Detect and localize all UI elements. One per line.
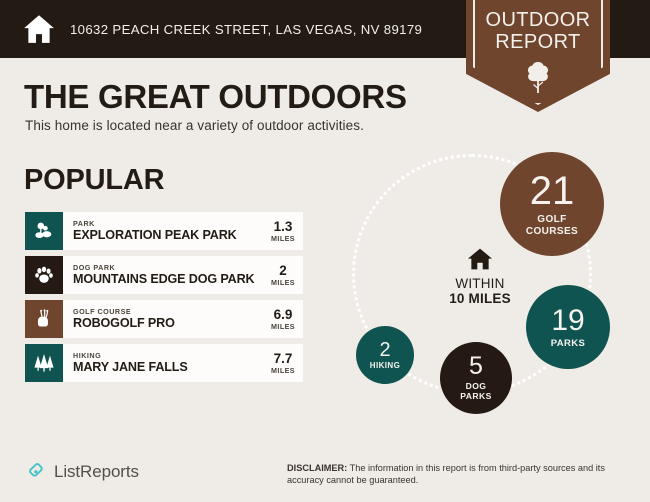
diagram-center-line1: WITHIN xyxy=(432,276,528,291)
stat-label-line1: GOLF xyxy=(537,214,566,225)
list-item-distance-value: 2 xyxy=(271,264,295,278)
stat-value: 19 xyxy=(551,306,584,336)
page-title: THE GREAT OUTDOORS xyxy=(24,78,407,116)
stat-value: 2 xyxy=(379,340,390,360)
list-item-category: PARK xyxy=(73,220,237,228)
golf-bag-icon xyxy=(25,300,63,338)
list-item-distance-value: 6.9 xyxy=(271,308,295,322)
stat-bubble-parks[interactable]: 19 PARKS xyxy=(526,285,610,369)
list-item-distance: 6.9 MILES xyxy=(265,308,295,330)
listreports-logo-text: ListReports xyxy=(54,462,139,482)
list-item-distance: 7.7 MILES xyxy=(265,352,295,374)
stat-label-line2: COURSES xyxy=(526,226,578,237)
list-item-distance: 1.3 MILES xyxy=(265,220,295,242)
stat-bubble-hiking[interactable]: 2 HIKING xyxy=(356,326,414,384)
list-item[interactable]: HIKING MARY JANE FALLS 7.7 MILES xyxy=(25,344,303,382)
list-item-name: EXPLORATION PEAK PARK xyxy=(73,229,237,242)
list-item-text: PARK EXPLORATION PEAK PARK xyxy=(73,220,237,242)
list-item-name: MOUNTAINS EDGE DOG PARK xyxy=(73,273,255,286)
stat-label: GOLF COURSES xyxy=(526,214,578,237)
diagram-center: WITHIN 10 MILES xyxy=(432,247,528,306)
property-address: 10632 PEACH CREEK STREET, LAS VEGAS, NV … xyxy=(70,22,422,37)
stat-value: 21 xyxy=(530,171,575,211)
list-item-name: MARY JANE FALLS xyxy=(73,361,188,374)
popular-list: PARK EXPLORATION PEAK PARK 1.3 MILES DOG… xyxy=(25,212,303,388)
park-icon xyxy=(25,212,63,250)
stat-label-line2: PARKS xyxy=(460,391,491,401)
list-item-distance-unit: MILES xyxy=(271,323,295,330)
badge-title-line2: REPORT xyxy=(466,31,610,53)
list-item[interactable]: DOG PARK MOUNTAINS EDGE DOG PARK 2 MILES xyxy=(25,256,303,294)
list-item-distance-unit: MILES xyxy=(271,279,295,286)
list-item[interactable]: GOLF COURSE ROBOGOLF PRO 6.9 MILES xyxy=(25,300,303,338)
paw-icon xyxy=(25,256,63,294)
stat-label: HIKING xyxy=(370,362,400,370)
list-item-body: PARK EXPLORATION PEAK PARK 1.3 MILES xyxy=(63,212,303,250)
list-item-distance: 2 MILES xyxy=(265,264,295,286)
list-item-distance-unit: MILES xyxy=(271,367,295,374)
list-item-distance-value: 1.3 xyxy=(271,220,295,234)
within-10-miles-diagram: WITHIN 10 MILES 21 GOLF COURSES 19 PARKS… xyxy=(336,142,636,438)
list-item-category: GOLF COURSE xyxy=(73,308,175,316)
list-item-distance-value: 7.7 xyxy=(271,352,295,366)
stat-value: 5 xyxy=(469,354,483,379)
list-item-body: DOG PARK MOUNTAINS EDGE DOG PARK 2 MILES xyxy=(63,256,303,294)
list-item-category: DOG PARK xyxy=(73,264,255,272)
list-item-text: DOG PARK MOUNTAINS EDGE DOG PARK xyxy=(73,264,255,286)
list-item-distance-unit: MILES xyxy=(271,235,295,242)
disclaimer-label: DISCLAIMER: xyxy=(287,463,347,473)
page-subtitle: This home is located near a variety of o… xyxy=(25,118,364,133)
list-item[interactable]: PARK EXPLORATION PEAK PARK 1.3 MILES xyxy=(25,212,303,250)
badge-title: OUTDOOR REPORT xyxy=(466,9,610,53)
tree-icon xyxy=(523,60,553,94)
stat-label: PARKS xyxy=(551,339,586,349)
list-item-text: HIKING MARY JANE FALLS xyxy=(73,352,188,374)
home-icon xyxy=(467,247,493,271)
stat-label: DOG PARKS xyxy=(460,382,491,401)
badge-title-line1: OUTDOOR xyxy=(466,9,610,31)
disclaimer: DISCLAIMER: The information in this repo… xyxy=(287,462,627,486)
outdoor-report-badge: OUTDOOR REPORT xyxy=(466,0,610,112)
listreports-logo[interactable]: ListReports xyxy=(25,461,139,483)
list-item-text: GOLF COURSE ROBOGOLF PRO xyxy=(73,308,175,330)
stat-label-line1: DOG xyxy=(466,381,487,391)
list-item-body: HIKING MARY JANE FALLS 7.7 MILES xyxy=(63,344,303,382)
list-item-body: GOLF COURSE ROBOGOLF PRO 6.9 MILES xyxy=(63,300,303,338)
list-item-name: ROBOGOLF PRO xyxy=(73,317,175,330)
stat-bubble-dog-parks[interactable]: 5 DOG PARKS xyxy=(440,342,512,414)
home-icon xyxy=(22,12,56,46)
pine-trees-icon xyxy=(25,344,63,382)
diagram-center-line2: 10 MILES xyxy=(432,291,528,306)
popular-section-heading: POPULAR xyxy=(24,164,164,197)
listreports-house-icon xyxy=(25,461,47,483)
stat-bubble-golf-courses[interactable]: 21 GOLF COURSES xyxy=(500,152,604,256)
list-item-category: HIKING xyxy=(73,352,188,360)
